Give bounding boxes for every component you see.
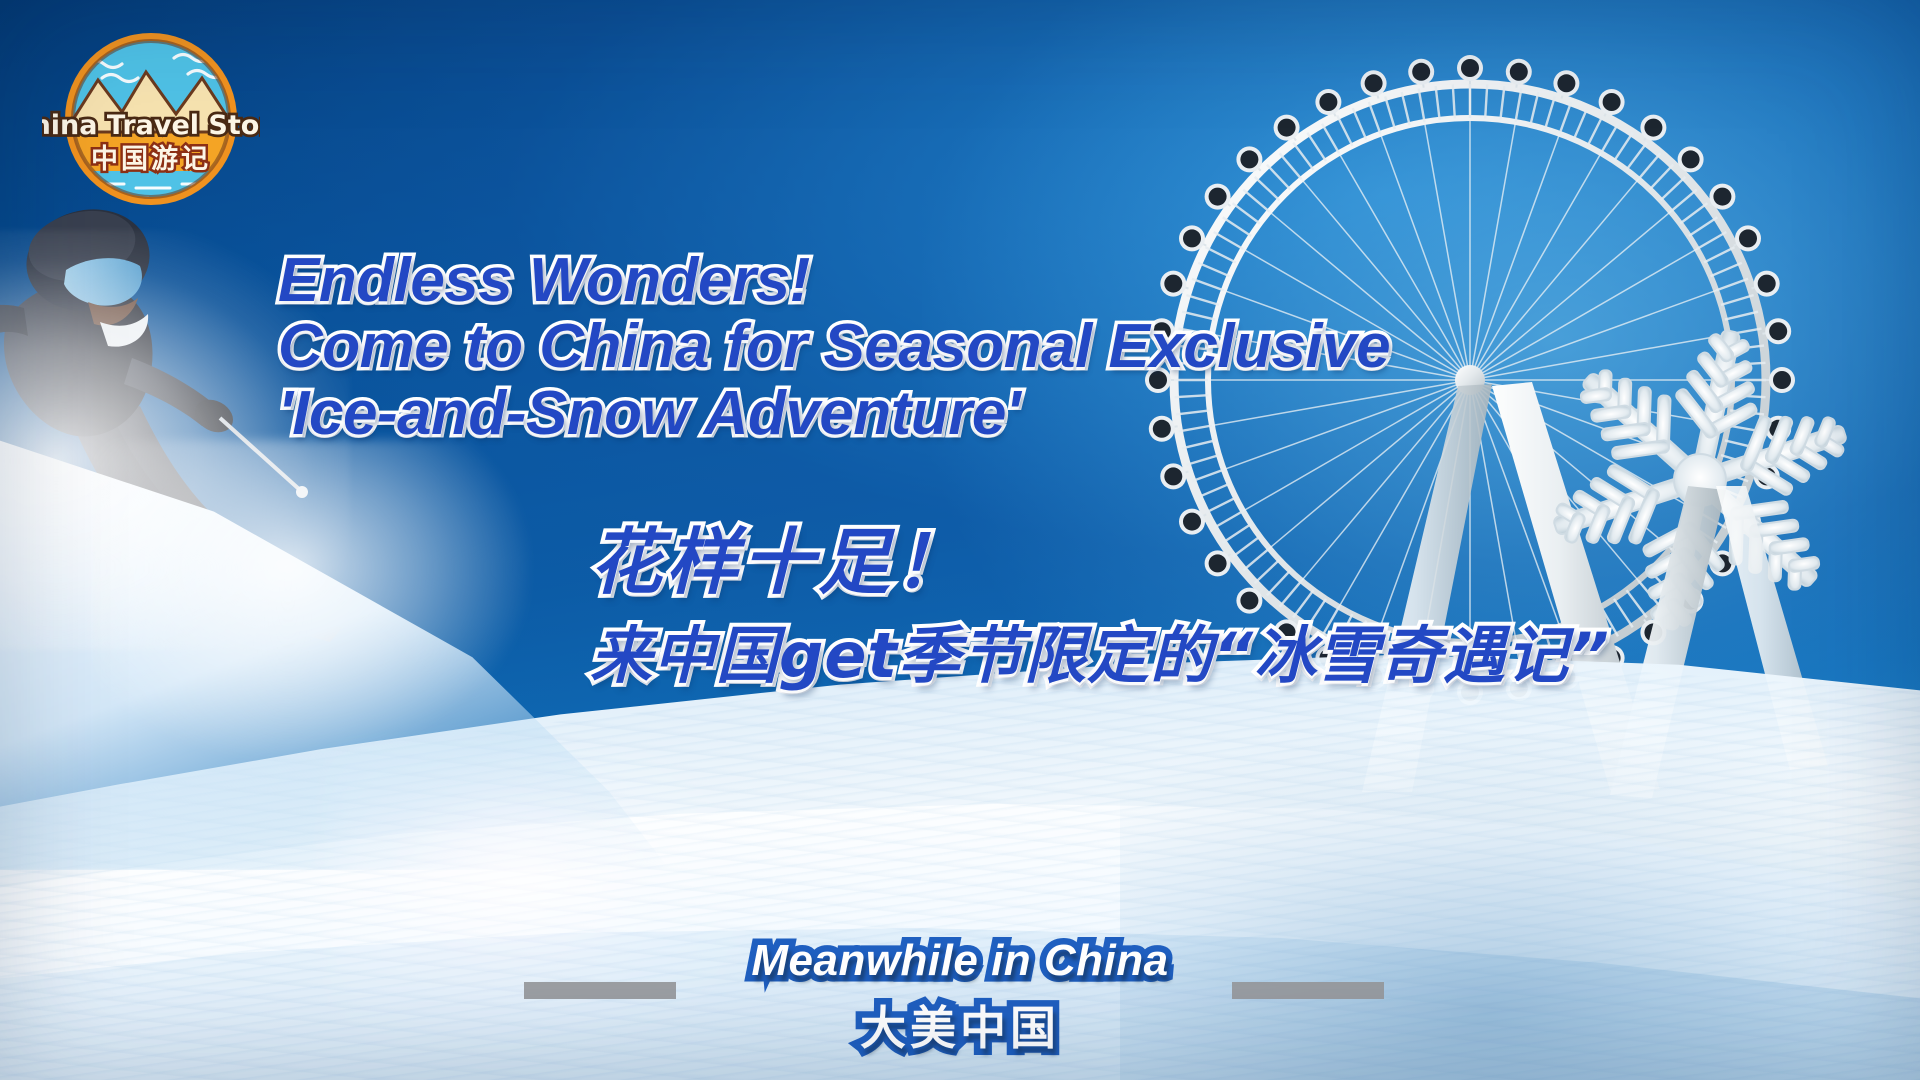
- footer-bar-right: [1232, 982, 1384, 999]
- headline-english: Endless Wonders! Come to China for Seaso…: [278, 248, 1598, 447]
- lens-flare-core: [390, 790, 650, 960]
- video-frame: China Travel Story 中国游记 Endless Wonders!…: [0, 0, 1920, 1080]
- headline-line-2: Come to China for Seasonal Exclusive: [278, 314, 1598, 380]
- channel-logo[interactable]: China Travel Story 中国游记: [42, 28, 260, 210]
- headline-cn-line-1: 花样十足！: [590, 520, 1770, 605]
- headline-chinese: 花样十足！ 来中国get季节限定的“冰雪奇遇记”: [590, 520, 1770, 692]
- snow-spray-secondary: [90, 440, 530, 760]
- headline-line-3: 'Ice-and-Snow Adventure': [278, 381, 1598, 447]
- footer-title-en: Meanwhile in China: [751, 936, 1168, 986]
- footer-title-cn: 大美中国: [860, 992, 1060, 1058]
- footer-title-row: Meanwhile in China: [0, 936, 1920, 986]
- logo-title-cn: 中国游记: [91, 144, 211, 175]
- footer-strap: Meanwhile in China 大美中国: [0, 936, 1920, 1058]
- headline-cn-line-2: 来中国get季节限定的“冰雪奇遇记”: [590, 619, 1770, 692]
- headline-line-1: Endless Wonders!: [278, 248, 1598, 314]
- footer-bar-left: [524, 982, 676, 999]
- logo-title-en: China Travel Story: [42, 110, 260, 141]
